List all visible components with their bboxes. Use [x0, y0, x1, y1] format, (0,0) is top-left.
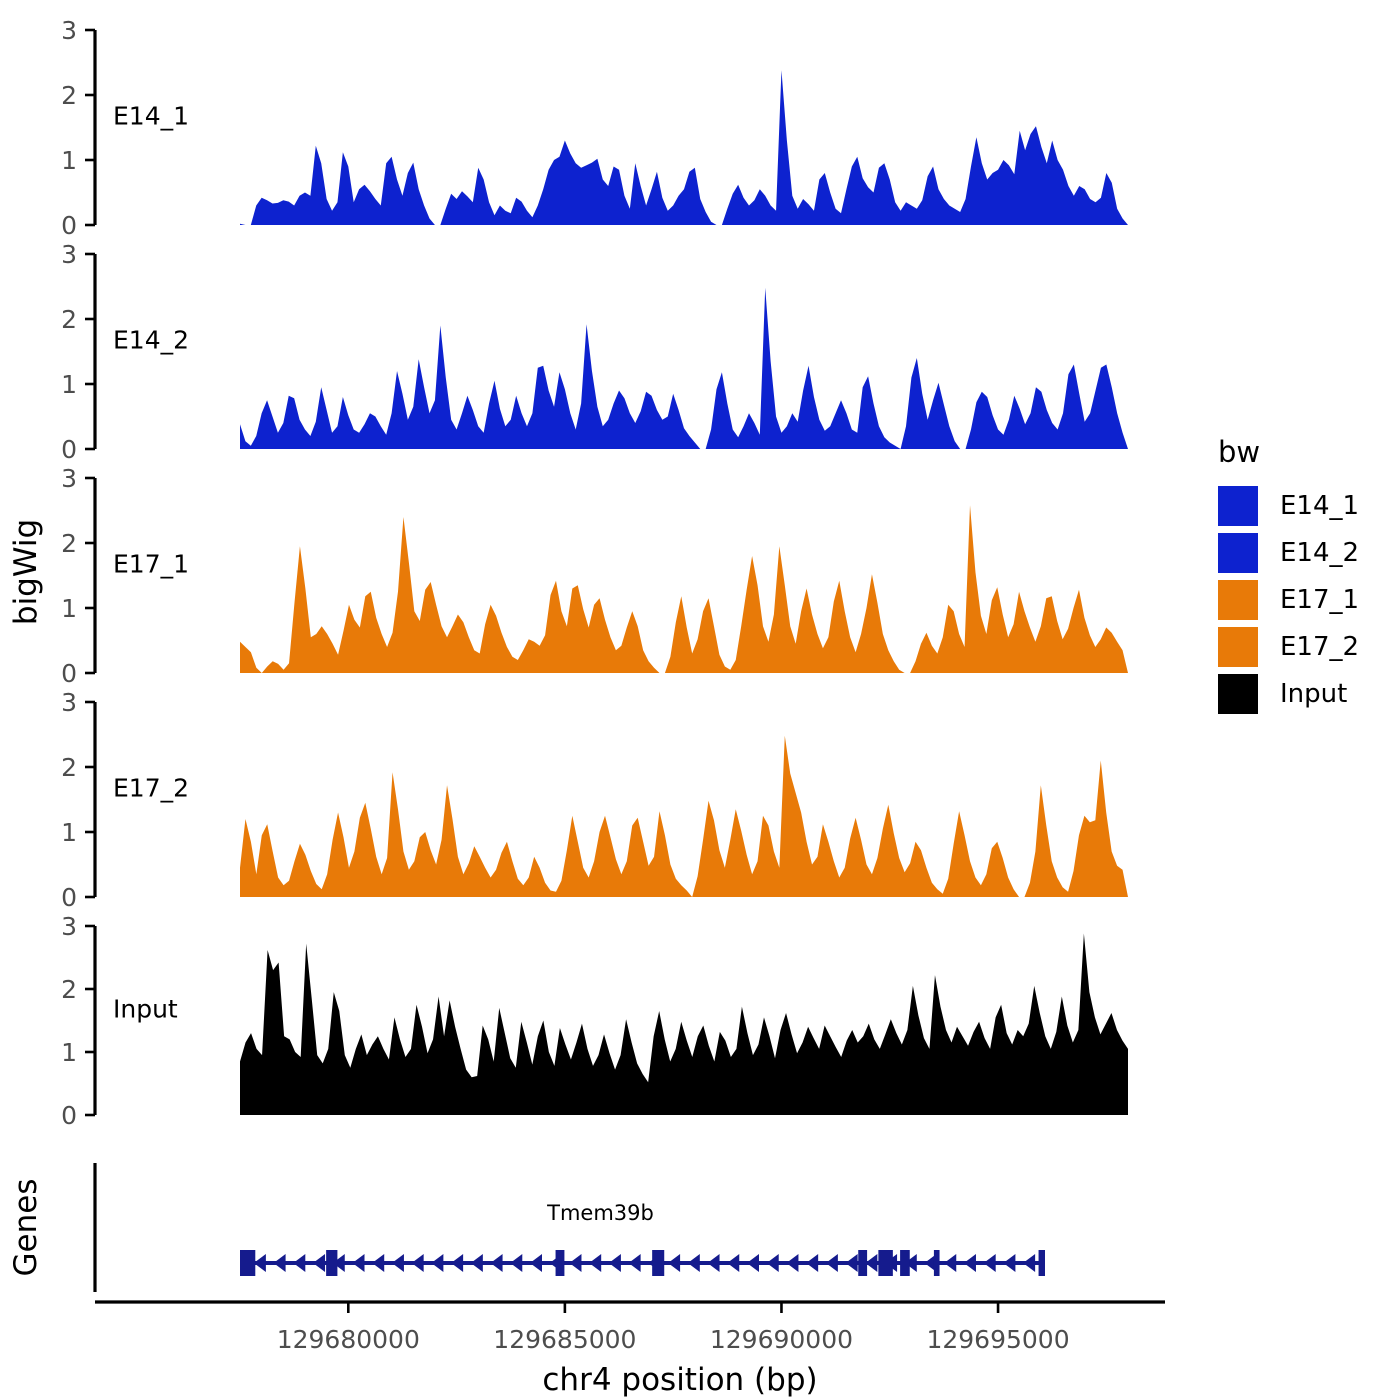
- legend-swatch-e17_2[interactable]: [1218, 627, 1258, 667]
- track-panel-input: 0123Input: [61, 912, 1128, 1130]
- legend-swatch-input[interactable]: [1218, 674, 1258, 714]
- gene-exon-2: [326, 1250, 337, 1276]
- gene-strand-arrow: [431, 1254, 443, 1272]
- track-area-e17_2: [240, 736, 1128, 897]
- genes-panel: GenesTmem39b: [8, 1163, 1045, 1292]
- legend-label-input: Input: [1280, 679, 1347, 709]
- x-tick-label-0: 129680000: [277, 1325, 420, 1354]
- gene-strand-arrow: [313, 1254, 325, 1272]
- gene-strand-arrow: [984, 1254, 996, 1272]
- gene-strand-arrow: [609, 1254, 621, 1272]
- legend-title: bw: [1218, 435, 1260, 469]
- gene-strand-arrow: [846, 1254, 858, 1272]
- track-area-input: [240, 934, 1128, 1115]
- y-tick-label-e17_2-0: 0: [61, 883, 77, 912]
- legend-label-e17_2: E17_2: [1280, 632, 1359, 662]
- track-panel-e14_2: 0123E14_2: [61, 240, 1128, 464]
- y-tick-label-e14_2-2: 2: [61, 305, 77, 334]
- gene-strand-arrow: [806, 1254, 818, 1272]
- gene-strand-arrow: [352, 1254, 364, 1272]
- gene-strand-arrow: [589, 1254, 601, 1272]
- gene-strand-arrow: [668, 1254, 680, 1272]
- y-tick-label-e14_1-2: 2: [61, 81, 77, 110]
- figure-root: 0123E14_10123E14_20123E17_10123E17_20123…: [0, 0, 1400, 1400]
- gene-strand-arrow: [530, 1254, 542, 1272]
- x-axis: 129680000129685000129690000129695000chr4…: [95, 1302, 1165, 1398]
- y-tick-label-e14_2-0: 0: [61, 435, 77, 464]
- gene-exon-4: [652, 1250, 664, 1276]
- gene-exon-9: [1039, 1250, 1045, 1276]
- track-area-e14_1: [240, 70, 1128, 225]
- track-label-e14_2: E14_2: [113, 325, 189, 354]
- gene-strand-arrow: [510, 1254, 522, 1272]
- gene-strand-arrow: [372, 1254, 384, 1272]
- gene-strand-arrow: [786, 1254, 798, 1272]
- x-tick-label-2: 129690000: [710, 1325, 853, 1354]
- gene-strand-arrow: [629, 1254, 641, 1272]
- y-tick-label-e17_1-0: 0: [61, 659, 77, 688]
- y-tick-label-e14_2-3: 3: [61, 240, 77, 269]
- gene-strand-arrow: [865, 1254, 877, 1272]
- y-tick-label-e14_1-0: 0: [61, 211, 77, 240]
- y-tick-label-input-3: 3: [61, 912, 77, 941]
- x-tick-label-1: 129685000: [493, 1325, 636, 1354]
- legend-swatch-e17_1[interactable]: [1218, 580, 1258, 620]
- y-tick-label-e17_2-3: 3: [61, 688, 77, 717]
- gene-strand-arrow: [826, 1254, 838, 1272]
- x-tick-label-3: 129695000: [926, 1325, 1069, 1354]
- gene-strand-arrow: [1003, 1254, 1015, 1272]
- y-tick-label-e14_1-1: 1: [61, 146, 77, 175]
- bigwig-axis-title: bigWig: [8, 519, 44, 625]
- gene-strand-arrow: [412, 1254, 424, 1272]
- gene-strand-arrow: [944, 1254, 956, 1272]
- track-panel-e17_1: 0123E17_1: [61, 464, 1128, 688]
- gene-exon-3: [556, 1250, 565, 1276]
- track-label-e17_2: E17_2: [113, 773, 189, 802]
- gene-strand-arrow: [471, 1254, 483, 1272]
- genes-axis-title: Genes: [8, 1179, 44, 1277]
- gene-strand-arrow: [569, 1254, 581, 1272]
- y-tick-label-e17_1-2: 2: [61, 529, 77, 558]
- track-label-e17_1: E17_1: [113, 549, 189, 578]
- gene-exon-7: [900, 1250, 910, 1276]
- track-panel-e17_2: 0123E17_2: [61, 688, 1128, 912]
- gene-exon-8: [934, 1250, 940, 1276]
- gene-strand-arrow: [293, 1254, 305, 1272]
- gene-strand-arrow: [1023, 1254, 1035, 1272]
- track-label-input: Input: [113, 994, 178, 1023]
- genome-browser-figure: 0123E14_10123E14_20123E17_10123E17_20123…: [0, 0, 1400, 1400]
- gene-strand-arrow: [708, 1254, 720, 1272]
- y-tick-label-input-1: 1: [61, 1038, 77, 1067]
- legend-label-e14_1: E14_1: [1280, 491, 1359, 521]
- track-area-e17_1: [240, 505, 1128, 673]
- y-tick-label-e17_1-3: 3: [61, 464, 77, 493]
- y-tick-label-input-2: 2: [61, 975, 77, 1004]
- gene-strand-arrow: [274, 1254, 286, 1272]
- y-tick-label-e17_1-1: 1: [61, 594, 77, 623]
- legend-swatch-e14_2[interactable]: [1218, 533, 1258, 573]
- gene-strand-arrow: [392, 1254, 404, 1272]
- gene-exon-1: [240, 1250, 255, 1276]
- legend: bwE14_1E14_2E17_1E17_2Input: [1218, 435, 1359, 714]
- gene-strand-arrow: [727, 1254, 739, 1272]
- y-tick-label-e14_2-1: 1: [61, 370, 77, 399]
- y-tick-label-e17_2-1: 1: [61, 818, 77, 847]
- gene-strand-arrow: [688, 1254, 700, 1272]
- gene-exon-6: [878, 1250, 892, 1276]
- gene-exon-5: [858, 1250, 867, 1276]
- x-axis-title: chr4 position (bp): [542, 1362, 817, 1398]
- gene-strand-arrow: [964, 1254, 976, 1272]
- track-label-e14_1: E14_1: [113, 101, 189, 130]
- gene-strand-arrow: [767, 1254, 779, 1272]
- gene-strand-arrow: [491, 1254, 503, 1272]
- track-area-e14_2: [240, 288, 1128, 449]
- gene-strand-arrow: [747, 1254, 759, 1272]
- y-tick-label-input-0: 0: [61, 1101, 77, 1130]
- track-panel-e14_1: 0123E14_1: [61, 16, 1128, 240]
- legend-label-e14_2: E14_2: [1280, 538, 1359, 568]
- y-tick-label-e14_1-3: 3: [61, 16, 77, 45]
- gene-strand-arrow: [451, 1254, 463, 1272]
- legend-swatch-e14_1[interactable]: [1218, 486, 1258, 526]
- gene-strand-arrow: [254, 1254, 266, 1272]
- y-tick-label-e17_2-2: 2: [61, 753, 77, 782]
- legend-label-e17_1: E17_1: [1280, 585, 1359, 615]
- gene-name-label: Tmem39b: [546, 1201, 654, 1225]
